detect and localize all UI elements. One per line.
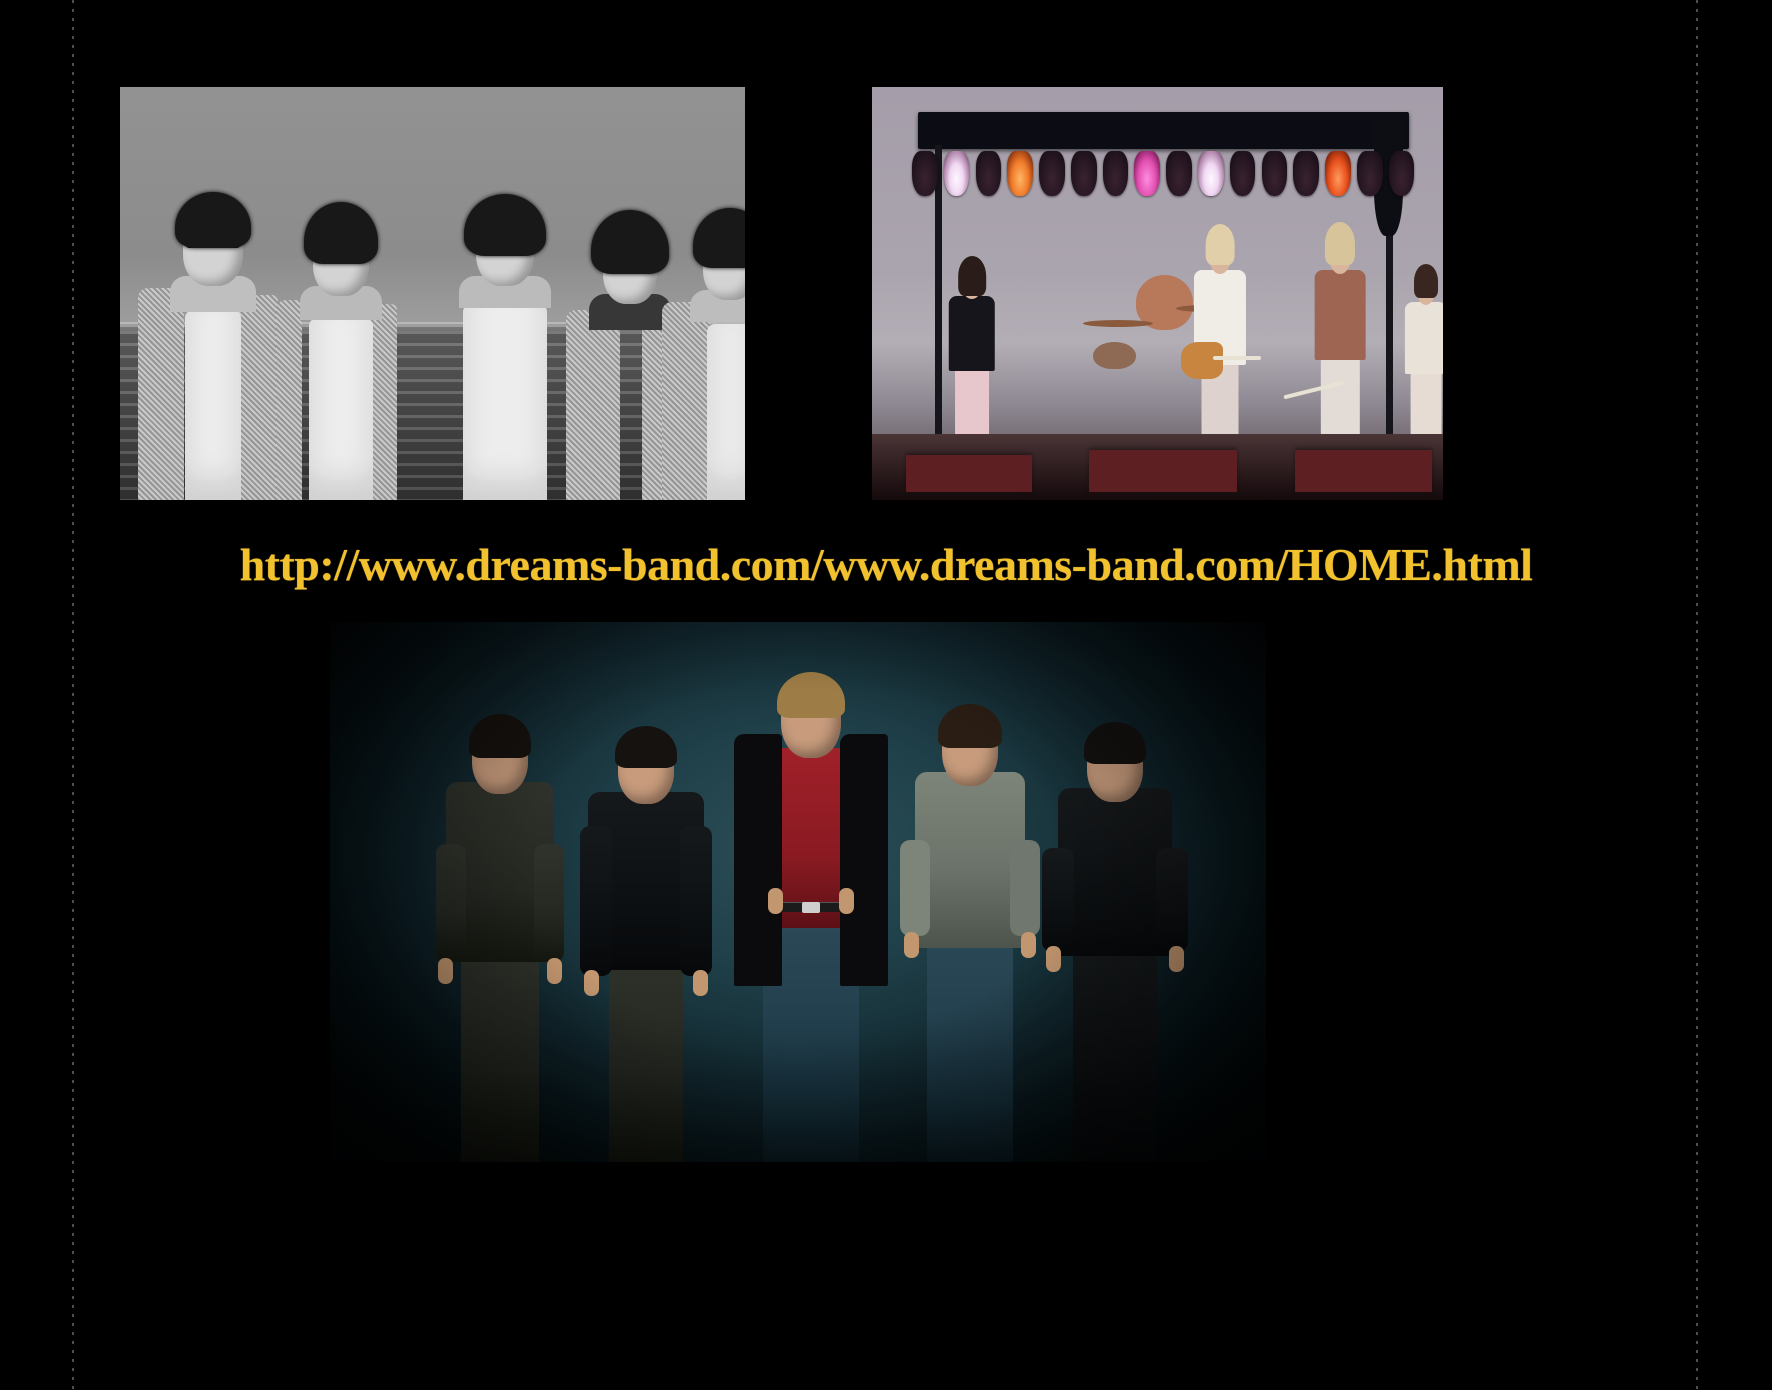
stage-monitor-1 <box>906 455 1032 492</box>
par-can-icon <box>944 151 970 196</box>
scarf-left <box>276 300 302 500</box>
tank-top <box>309 318 373 500</box>
vintage-member-5 <box>660 204 745 500</box>
torso <box>1405 302 1443 374</box>
lighting-truss <box>918 112 1409 149</box>
torso <box>1315 270 1366 361</box>
bass-guitar <box>1181 342 1223 378</box>
band-url-caption[interactable]: http://www.dreams-band.com/www.dreams-ba… <box>0 538 1772 591</box>
legs <box>1321 351 1359 442</box>
stage-monitor-3 <box>1295 450 1432 491</box>
tank-top <box>185 310 241 500</box>
par-can-icon <box>1357 151 1383 196</box>
hair <box>1414 264 1438 298</box>
vintage-band-photo <box>120 87 745 500</box>
photo-vignette <box>330 622 1266 1162</box>
hair <box>175 192 251 248</box>
vintage-member-1 <box>138 190 288 500</box>
crop-guide-right-icon <box>1696 0 1698 1390</box>
par-can-icon <box>1166 151 1192 196</box>
par-can-icon <box>1039 151 1065 196</box>
hair <box>464 194 546 256</box>
par-can-light-row <box>912 151 1414 196</box>
jacket-left <box>662 302 710 500</box>
tank-top <box>707 324 745 500</box>
par-can-icon <box>912 151 938 196</box>
stage-monitor-2 <box>1089 450 1237 491</box>
legs <box>1410 366 1441 442</box>
hair <box>1325 222 1355 265</box>
crash-cymbal-left <box>1083 320 1153 327</box>
hair <box>693 208 745 268</box>
tank-top <box>463 304 547 500</box>
live-member-guitarist-left <box>941 244 1004 442</box>
par-can-icon <box>1134 151 1160 196</box>
par-can-icon <box>1103 151 1129 196</box>
scarf-right <box>369 304 397 500</box>
par-can-icon <box>1262 151 1288 196</box>
par-can-icon <box>1230 151 1256 196</box>
hair <box>1206 224 1235 265</box>
par-can-icon <box>1325 151 1351 196</box>
par-can-icon <box>1389 151 1415 196</box>
page-canvas: http://www.dreams-band.com/www.dreams-ba… <box>0 0 1772 1390</box>
par-can-icon <box>1007 151 1033 196</box>
live-member-singer-right <box>1306 215 1375 442</box>
legs <box>955 363 989 442</box>
modern-band-photo <box>330 622 1266 1162</box>
par-can-icon <box>1293 151 1319 196</box>
vintage-member-3 <box>430 198 580 500</box>
crop-guide-left-icon <box>72 0 74 1390</box>
live-concert-photo <box>872 87 1443 500</box>
live-member-right-edge <box>1397 252 1443 442</box>
live-member-bassist-centre <box>1186 215 1255 442</box>
par-can-icon <box>1071 151 1097 196</box>
hair <box>591 210 669 274</box>
par-can-icon <box>976 151 1002 196</box>
torso <box>949 296 995 371</box>
jacket-left <box>138 288 184 500</box>
hair <box>304 202 378 264</box>
jacket-left <box>566 310 620 500</box>
vintage-member-2 <box>268 200 413 500</box>
snare-drum <box>1093 342 1136 369</box>
hair <box>958 256 986 296</box>
guitar-neck <box>1213 356 1261 360</box>
par-can-icon <box>1198 151 1224 196</box>
